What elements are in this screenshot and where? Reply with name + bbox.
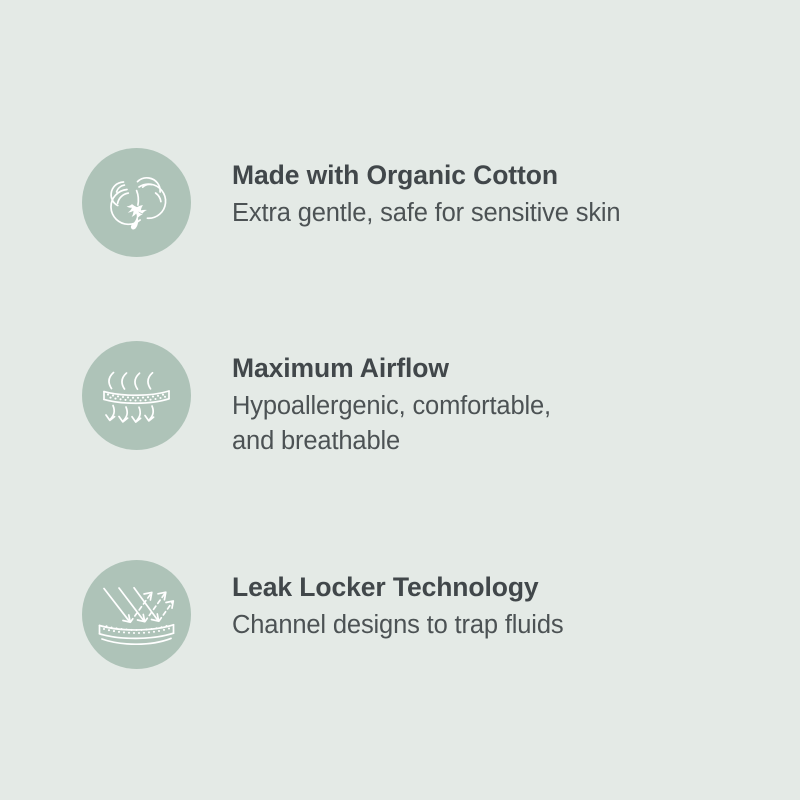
feature-icon-badge [82,341,191,450]
feature-description-line: Hypoallergenic, comfortable, [232,389,551,424]
feature-row: Maximum Airflow Hypoallergenic, comforta… [82,341,551,458]
feature-icon-badge [82,148,191,257]
feature-description-line: and breathable [232,424,551,459]
feature-title: Leak Locker Technology [232,571,563,604]
feature-description-line: Extra gentle, safe for sensitive skin [232,196,620,231]
product-feature-panel: Made with Organic Cotton Extra gentle, s… [0,0,800,800]
feature-text-block: Made with Organic Cotton Extra gentle, s… [232,148,620,231]
feature-description-line: Channel designs to trap fluids [232,608,563,643]
feature-title: Made with Organic Cotton [232,159,620,192]
feature-text-block: Maximum Airflow Hypoallergenic, comforta… [232,341,551,458]
feature-description: Extra gentle, safe for sensitive skin [232,196,620,231]
feature-row: Made with Organic Cotton Extra gentle, s… [82,148,620,257]
airflow-breathable-fabric-icon [82,341,191,450]
feature-description: Hypoallergenic, comfortable, and breatha… [232,389,551,458]
feature-title: Maximum Airflow [232,352,551,385]
feature-icon-badge [82,560,191,669]
cotton-boll-icon [82,148,191,257]
feature-description: Channel designs to trap fluids [232,608,563,643]
feature-row: Leak Locker Technology Channel designs t… [82,560,563,669]
feature-text-block: Leak Locker Technology Channel designs t… [232,560,563,643]
leak-locker-fluid-repel-icon [82,560,191,669]
